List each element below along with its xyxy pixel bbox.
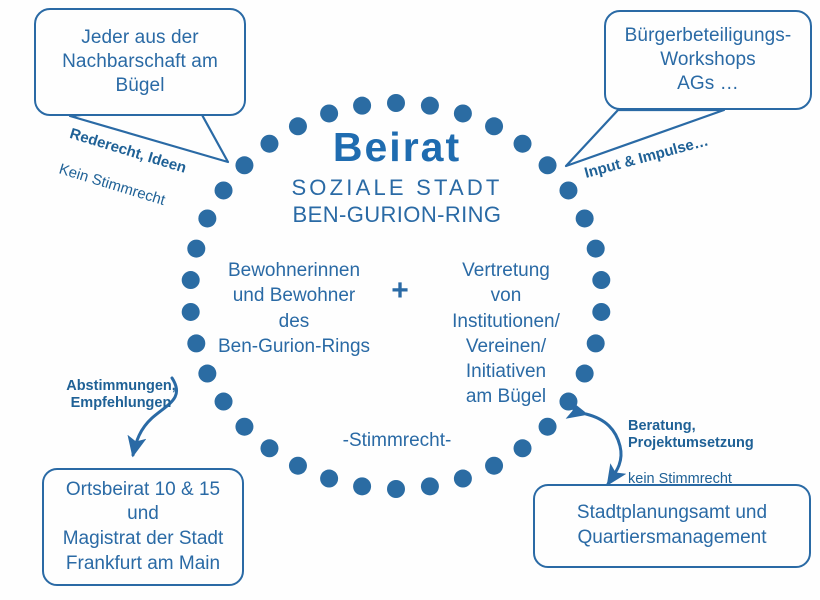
ring-title-group: Beirat SOZIALE STADT BEN-GURION-RING — [236, 126, 558, 228]
ring-title-main: Beirat — [236, 126, 558, 169]
ring-column-institutions: Vertretung von Institutionen/ Vereinen/ … — [420, 258, 592, 410]
diagram-canvas: Jeder aus der Nachbarschaft am Bügel Bür… — [0, 0, 820, 600]
ring-composition-group: Bewohnerinnen und Bewohner des Ben-Gurio… — [205, 258, 595, 410]
ring-title-sub1: SOZIALE STADT — [236, 175, 558, 201]
outcome-box-ortsbeirat-text: Ortsbeirat 10 & 15 und Magistrat der Sta… — [57, 478, 230, 577]
ring-column-residents: Bewohnerinnen und Bewohner des Ben-Gurio… — [208, 258, 380, 359]
speech-bubble-workshops: Bürgerbeteiligungs- Workshops AGs … — [604, 10, 812, 110]
outcome-box-ortsbeirat: Ortsbeirat 10 & 15 und Magistrat der Sta… — [42, 468, 244, 586]
ring-footer-stimmrecht: -Stimmrecht- — [236, 430, 558, 452]
speech-bubble-neighbourhood-text: Jeder aus der Nachbarschaft am Bügel — [54, 26, 226, 99]
speech-bubble-workshops-text: Bürgerbeteiligungs- Workshops AGs … — [617, 24, 800, 97]
outcome-box-stadtplanung-text: Stadtplanungsamt und Quartiersmanagement — [571, 501, 773, 550]
plus-icon: + — [380, 274, 420, 307]
speech-bubble-neighbourhood: Jeder aus der Nachbarschaft am Bügel — [34, 8, 246, 116]
edge-label-beratung-normal: kein Stimmrecht — [628, 471, 808, 489]
edge-label-abstimmungen: Abstimmungen, Empfehlungen — [46, 360, 196, 431]
arrow-beratung — [586, 414, 621, 484]
edge-label-abstimmungen-bold: Abstimmungen, Empfehlungen — [46, 378, 196, 413]
ring-title-sub2: BEN-GURION-RING — [236, 202, 558, 228]
edge-label-beratung: Beratung, Projektumsetzung kein Stimmrec… — [628, 400, 808, 506]
edge-label-beratung-bold: Beratung, Projektumsetzung — [628, 418, 808, 453]
